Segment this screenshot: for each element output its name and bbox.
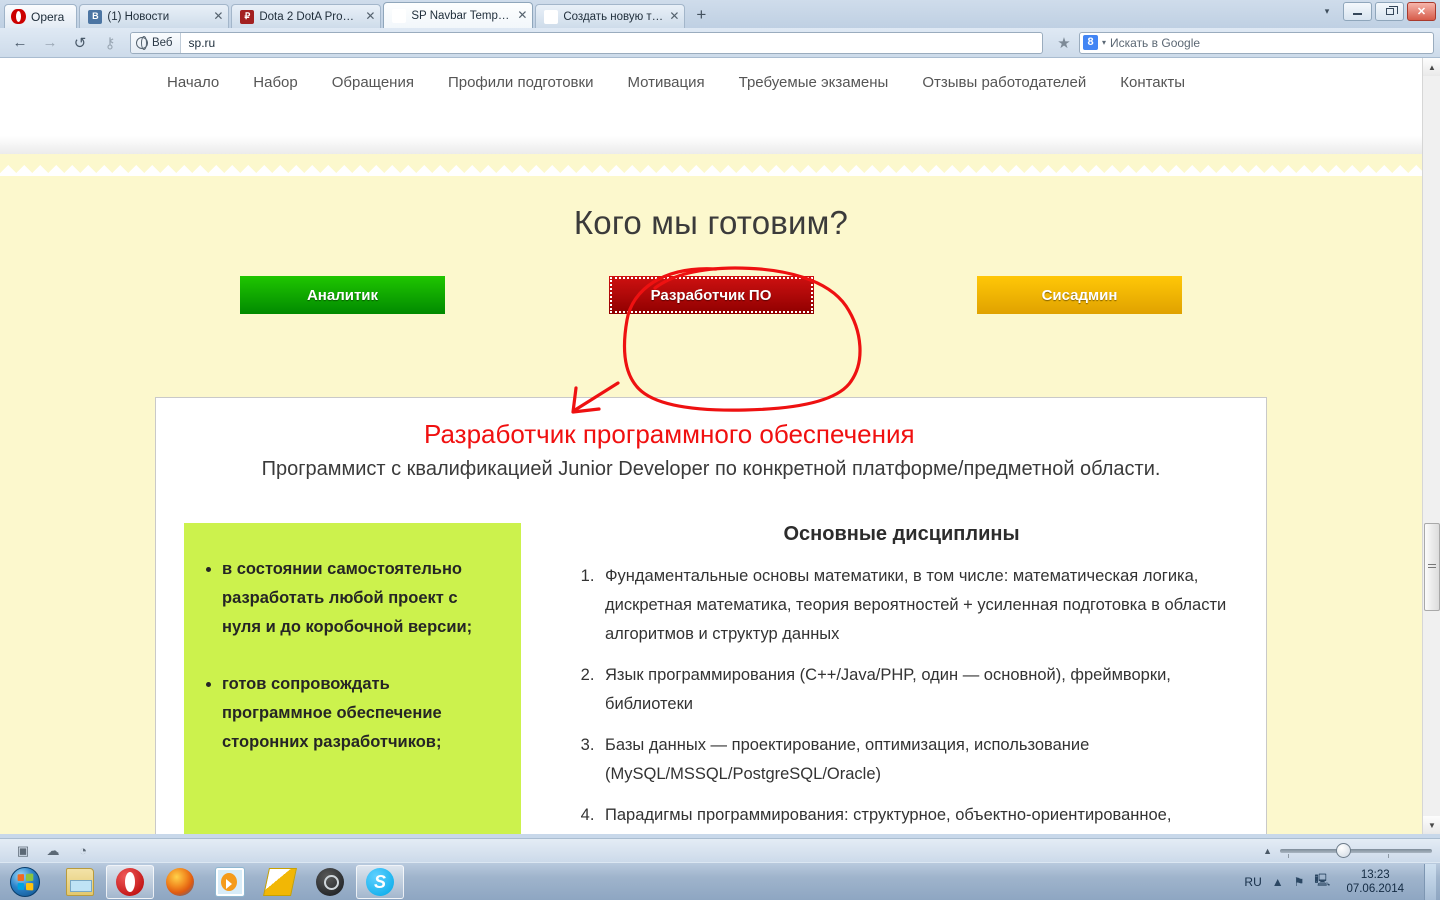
security-key-icon[interactable]: ⚷ [96, 31, 124, 55]
quality-item: в состоянии самостоятельно разработать л… [222, 555, 501, 642]
role-tab-analyst[interactable]: Аналитик [240, 276, 445, 314]
page-scrollbar[interactable]: ▲ ▼ [1422, 58, 1440, 834]
tab-strip: Opera В (1) Новости ✕ ₽ Dota 2 DotA Prod… [0, 0, 1440, 28]
sp-icon: SP [392, 9, 406, 23]
taskbar-item-steam[interactable] [306, 865, 354, 899]
zoom-tick [1288, 854, 1289, 858]
web-badge-label: Веб [152, 37, 173, 49]
address-toolbar: ← → ↺ ⚷ Веб sp.ru ★ 8 ▾ Искать в Google [0, 28, 1440, 58]
restore-button[interactable] [1375, 2, 1404, 21]
nav-item-reviews[interactable]: Отзывы работодателей [905, 74, 1103, 91]
network-flag-icon[interactable]: ⚑ [1294, 875, 1305, 889]
show-desktop-button[interactable] [1424, 864, 1436, 900]
close-icon[interactable]: ✕ [516, 10, 528, 22]
close-icon[interactable]: ✕ [364, 11, 376, 23]
close-button[interactable]: ✕ [1407, 2, 1436, 21]
scrollbar-grip-icon [1428, 564, 1436, 570]
close-icon[interactable]: ✕ [668, 11, 680, 23]
nav-item-exams[interactable]: Требуемые экзамены [722, 74, 906, 91]
page-title: Кого мы готовим? [0, 186, 1422, 242]
url-text: sp.ru [181, 36, 216, 50]
nav-item-admission[interactable]: Набор [236, 74, 314, 91]
annotation-text: Разработчик программного обеспечения [424, 419, 915, 450]
forward-icon[interactable]: → [36, 31, 64, 55]
opera-logo-icon [11, 9, 26, 24]
role-tab-developer[interactable]: Разработчик ПО [609, 276, 814, 314]
browser-tab-new-topic[interactable]: o° Создать новую тему - … ✕ [535, 4, 685, 28]
show-hidden-icons-icon[interactable]: ▲ [1272, 875, 1284, 889]
discipline-item: Язык программирования (C++/Java/PHP, оди… [599, 661, 1238, 719]
bookmark-star-icon[interactable]: ★ [1051, 32, 1077, 54]
windows-flag-icon [18, 873, 34, 890]
site-header: Начало Набор Обращения Профили подготовк… [0, 58, 1422, 176]
tab-title: (1) Новости [107, 11, 207, 23]
opera-menu-button[interactable]: Opera [4, 4, 77, 28]
language-indicator[interactable]: RU [1244, 875, 1261, 889]
scroll-up-icon[interactable]: ▲ [1423, 58, 1440, 76]
skype-icon: S [366, 868, 394, 896]
browser-tab-dota[interactable]: ₽ Dota 2 DotA Prodota ✕ [231, 4, 381, 28]
google-icon: 8 [1083, 35, 1098, 50]
quality-item: готов сопровождать программное обеспечен… [222, 670, 501, 757]
discipline-item: Парадигмы программирования: структурное,… [599, 801, 1238, 834]
nav-item-contacts[interactable]: Контакты [1103, 74, 1202, 91]
role-tab-sysadmin[interactable]: Сисадмин [977, 276, 1182, 314]
scrollbar-thumb[interactable] [1424, 523, 1440, 611]
system-tray: RU ▲ ⚑ 🖳 13:23 07.06.2014 [1244, 864, 1440, 900]
browser-status-bar: ▣ ☁ ◔ ▲ [0, 838, 1440, 862]
site-navigation: Начало Набор Обращения Профили подготовк… [0, 58, 1422, 91]
taskbar-item-opera[interactable] [106, 865, 154, 899]
chevron-down-icon[interactable]: ▾ [1102, 38, 1106, 47]
taskbar-item-skype[interactable]: S [356, 865, 404, 899]
reload-icon[interactable]: ↺ [66, 31, 94, 55]
windows-taskbar: S RU ▲ ⚑ 🖳 13:23 07.06.2014 [0, 862, 1440, 900]
disciplines-panel: Основные дисциплины Фундаментальные осно… [543, 523, 1238, 834]
explorer-icon [66, 868, 94, 896]
zoom-slider-handle[interactable] [1336, 843, 1351, 858]
vk-icon: В [88, 10, 102, 24]
qualities-panel: в состоянии самостоятельно разработать л… [184, 523, 521, 834]
taskbar-clock[interactable]: 13:23 07.06.2014 [1340, 868, 1410, 896]
globe-icon [136, 37, 148, 49]
start-orb-icon [10, 867, 40, 897]
clock-date: 07.06.2014 [1346, 882, 1404, 896]
tab-title: Создать новую тему - … [563, 11, 663, 23]
nav-item-requests[interactable]: Обращения [315, 74, 431, 91]
forum-icon: o° [544, 10, 558, 24]
search-placeholder: Искать в Google [1110, 36, 1200, 50]
browser-tab-navbar-template[interactable]: SP SP Navbar Template for B… ✕ [383, 2, 533, 28]
window-controls: ▾ ✕ [1314, 2, 1436, 21]
tab-title: Dota 2 DotA Prodota [259, 11, 359, 23]
web-badge[interactable]: Веб [131, 33, 181, 53]
action-center-icon[interactable]: 🖳 [1314, 871, 1330, 892]
scroll-down-icon[interactable]: ▼ [1423, 816, 1440, 834]
panel-icon[interactable]: ▣ [8, 843, 38, 859]
speed-dial-icon[interactable]: ◔ [68, 843, 98, 858]
role-description: Программист с квалификацией Junior Devel… [211, 454, 1211, 485]
zoom-slider-track [1280, 849, 1432, 853]
page-viewport: Начало Набор Обращения Профили подготовк… [0, 58, 1440, 834]
taskbar-item-media-player[interactable] [206, 865, 254, 899]
start-button[interactable] [0, 864, 50, 900]
taskbar-item-firefox[interactable] [156, 865, 204, 899]
taskbar-item-winamp[interactable] [256, 865, 304, 899]
taskbar-items: S [50, 865, 404, 899]
discipline-item: Базы данных — проектирование, оптимизаци… [599, 731, 1238, 789]
cloud-icon[interactable]: ☁ [38, 843, 68, 859]
new-tab-button[interactable]: + [689, 4, 713, 28]
zoom-expand-icon[interactable]: ▲ [1263, 846, 1272, 856]
role-tab-row: Аналитик Разработчик ПО Сисадмин [240, 276, 1182, 314]
web-page: Начало Набор Обращения Профили подготовк… [0, 58, 1422, 834]
discipline-item: Фундаментальные основы математики, в том… [599, 562, 1238, 649]
minimize-button[interactable] [1343, 2, 1372, 21]
winamp-icon [263, 868, 297, 896]
dota-icon: ₽ [240, 10, 254, 24]
zoom-tick [1388, 854, 1389, 858]
nav-item-home[interactable]: Начало [150, 74, 236, 91]
nav-item-profiles[interactable]: Профили подготовки [431, 74, 610, 91]
media-player-icon [216, 868, 244, 896]
nav-item-motivation[interactable]: Мотивация [610, 74, 721, 91]
opera-browser-window: Opera В (1) Новости ✕ ₽ Dota 2 DotA Prod… [0, 0, 1440, 862]
browser-tab-vk[interactable]: В (1) Новости ✕ [79, 4, 229, 28]
back-icon[interactable]: ← [6, 31, 34, 55]
role-content-card: Программист с квалификацией Junior Devel… [155, 397, 1267, 834]
opera-menu-label: Opera [31, 10, 64, 24]
sawtooth-divider [0, 154, 1422, 176]
opera-icon [116, 868, 144, 896]
firefox-icon [166, 868, 194, 896]
zoom-slider[interactable] [1280, 844, 1432, 858]
chevron-down-icon[interactable]: ▾ [1314, 6, 1340, 17]
tab-title: SP Navbar Template for B… [411, 10, 511, 22]
search-input[interactable]: 8 ▾ Искать в Google [1079, 32, 1434, 54]
close-icon[interactable]: ✕ [212, 11, 224, 23]
taskbar-item-explorer[interactable] [56, 865, 104, 899]
disciplines-title: Основные дисциплины [565, 523, 1238, 546]
address-input[interactable]: Веб sp.ru [130, 32, 1043, 54]
clock-time: 13:23 [1346, 868, 1404, 882]
steam-icon [316, 868, 344, 896]
